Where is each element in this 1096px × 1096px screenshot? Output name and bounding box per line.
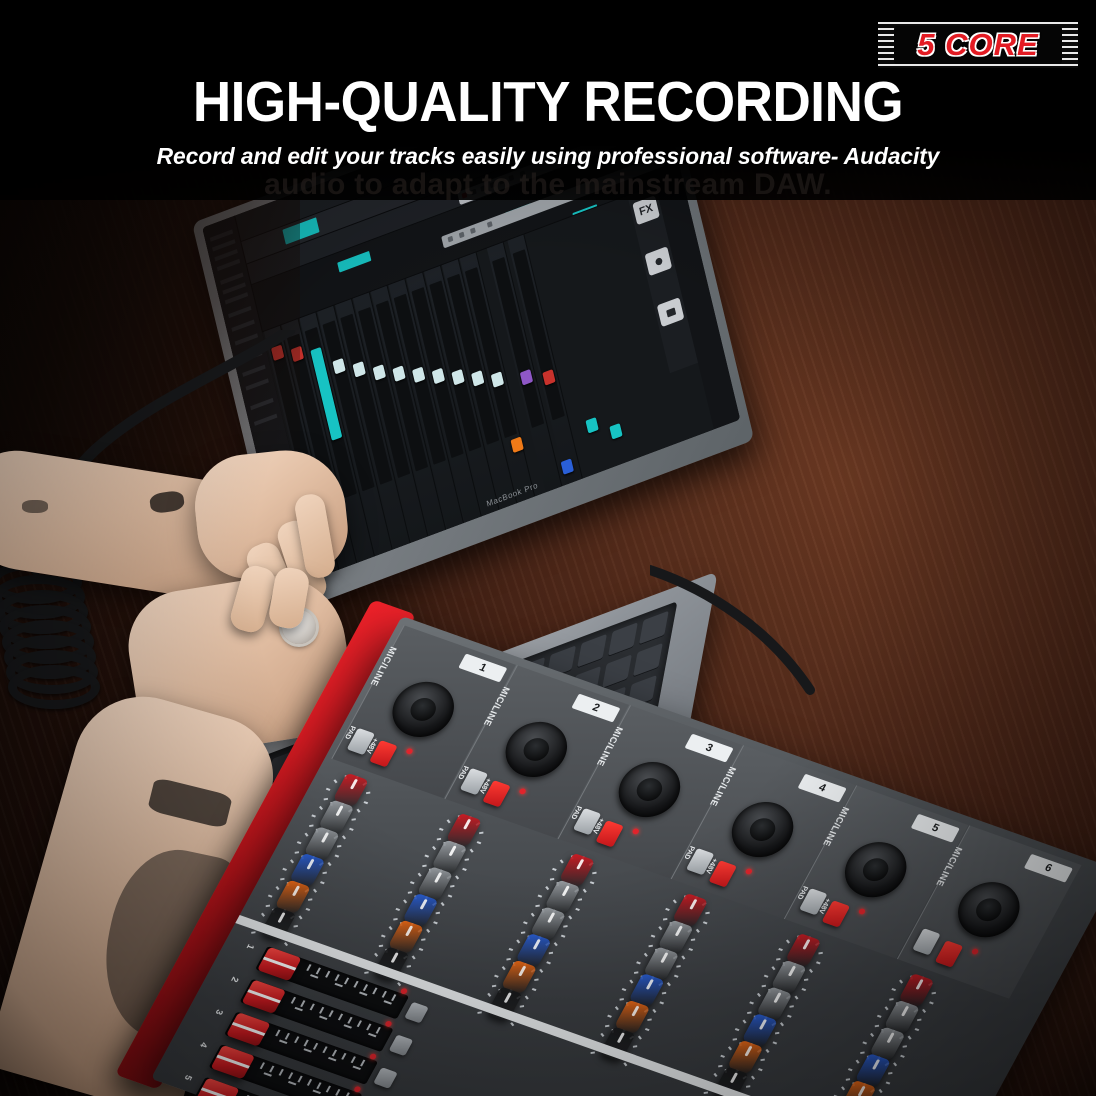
xlr-combo-jack[interactable] (382, 674, 465, 745)
phantom-led (405, 748, 414, 755)
xlr-combo-jack[interactable] (608, 754, 691, 825)
page-subtitle: Record and edit your tracks easily using… (16, 142, 1079, 170)
xlr-combo-jack[interactable] (834, 834, 917, 905)
insert-button[interactable] (645, 246, 673, 276)
phantom-led (745, 868, 754, 875)
page-title: HIGH-QUALITY RECORDING (38, 74, 1057, 131)
tattoo-wrist (22, 500, 48, 513)
xlr-combo-jack[interactable] (947, 874, 1030, 945)
cable-to-mixer (650, 560, 850, 740)
clip-highlight (337, 251, 371, 273)
phantom-led (518, 788, 527, 795)
pad-switch[interactable] (912, 928, 941, 955)
header-band: audio to adapt to the mainstream DAW. HI… (0, 0, 1096, 200)
xlr-combo-jack[interactable] (495, 714, 578, 785)
phantom-led (858, 908, 867, 915)
product-banner: {} (0, 0, 1096, 1096)
logo-text: 5 CORE (878, 22, 1078, 68)
phantom-led (631, 828, 640, 835)
ghost-text: audio to adapt to the mainstream DAW. (0, 168, 1096, 202)
monitor-button[interactable] (657, 297, 685, 327)
brand-logo: 5 CORE (878, 22, 1078, 68)
xlr-combo-jack[interactable] (721, 794, 804, 865)
phantom-switch[interactable] (935, 940, 964, 967)
phantom-led (971, 948, 980, 955)
